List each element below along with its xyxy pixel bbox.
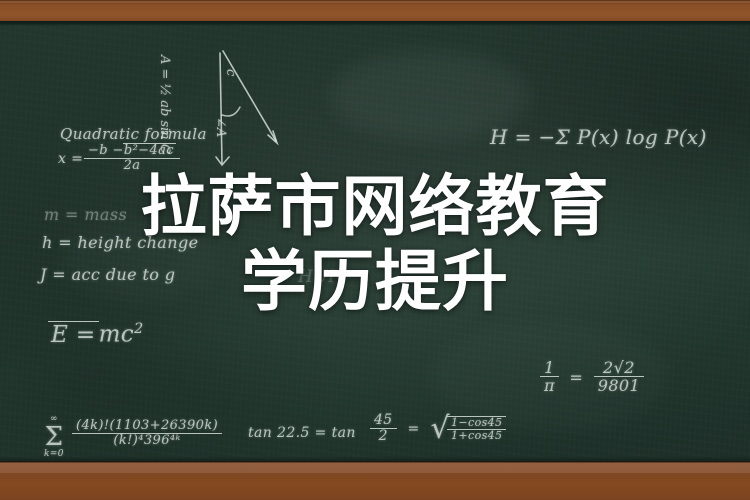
tan-rad-den: 1+cos45: [447, 430, 506, 442]
chalk-einstein: E =mc2: [48, 321, 144, 348]
pi-lhs-num: 1: [540, 359, 559, 377]
chalk-quadratic-title: Quadratic formula: [60, 125, 207, 143]
tan-rad-num: 1−cos45: [447, 417, 506, 430]
frame-bottom-edge: [0, 461, 750, 463]
tan-arg-den: 2: [370, 429, 397, 445]
tan-arg-num: 45: [370, 413, 397, 429]
chalk-mass: m = mass: [44, 205, 127, 224]
ramanujan-numerator: (4k)!(1103+26390k): [72, 419, 222, 434]
chalk-tan-identity: 45 2 = √ 1−cos45 1+cos45: [370, 413, 506, 445]
quadratic-numerator: −b −b²−4ac: [84, 143, 180, 159]
frame-top-highlight: [0, 1, 750, 3]
ramanujan-sigma: Σ: [44, 424, 64, 450]
quadratic-denominator: 2a: [84, 159, 180, 174]
poster-root: A = ½ ab sin C c ∠A Quadratic formula x …: [0, 0, 750, 500]
chalk-hup: HUP: [298, 267, 340, 287]
pi-rhs-num: 2√2: [594, 359, 644, 377]
einstein-rhs: mc: [99, 322, 135, 348]
pi-rhs-den: 9801: [594, 377, 644, 395]
pi-rhs-frac: 2√2 9801: [594, 359, 644, 395]
pi-equals: =: [564, 368, 588, 387]
ramanujan-frac: (4k)!(1103+26390k) (k!)⁴396⁴ᵏ: [72, 419, 222, 449]
chalk-height: h = height change: [42, 233, 198, 252]
chalk-accel: J = acc due to g: [40, 265, 175, 284]
pi-lhs-den: π: [540, 377, 559, 395]
triangle-diagram-svg: [176, 45, 296, 175]
tan-arg-frac: 45 2: [370, 413, 397, 445]
ramanujan-denominator: (k!)⁴396⁴ᵏ: [72, 434, 222, 449]
quadratic-radicand: b²−4ac: [123, 143, 176, 158]
diagram-label-c: c: [223, 69, 238, 76]
triangle-diagram: A = ½ ab sin C c ∠A: [176, 45, 296, 175]
pi-lhs-frac: 1 π: [540, 359, 559, 395]
chalk-tan-lhs: tan 22.5 = tan: [248, 425, 356, 441]
ramanujan-lower-limit: k=0: [44, 450, 64, 459]
chalkboard-top-shadow: [0, 21, 750, 26]
chalkboard-surface: A = ½ ab sin C c ∠A Quadratic formula x …: [0, 21, 750, 462]
chalk-quadratic-fraction: −b −b²−4ac 2a: [84, 143, 180, 174]
quadratic-num-lead: −b −: [88, 143, 124, 158]
tan-rad-frac: 1−cos45 1+cos45: [447, 416, 506, 442]
diagram-label-angle: ∠A: [213, 117, 228, 137]
chalk-quadratic-x: x =: [58, 151, 83, 167]
quadratic-frac: −b −b²−4ac 2a: [84, 143, 180, 174]
einstein-exponent: 2: [134, 321, 143, 337]
chalk-pi-identity: 1 π = 2√2 9801: [540, 359, 644, 395]
chalk-ramanujan-sigma-block: ∞ Σ k=0: [44, 415, 64, 459]
chalk-ramanujan-fraction: (4k)!(1103+26390k) (k!)⁴396⁴ᵏ: [72, 419, 222, 449]
frame-bottom-lip: [0, 462, 750, 473]
chalk-entropy: H = −Σ P(x) log P(x): [490, 125, 707, 149]
einstein-lhs: E =: [48, 321, 99, 348]
tan-radical: √ 1−cos45 1+cos45: [430, 416, 506, 442]
tan-equals: =: [401, 421, 425, 437]
frame-top: [0, 0, 750, 22]
